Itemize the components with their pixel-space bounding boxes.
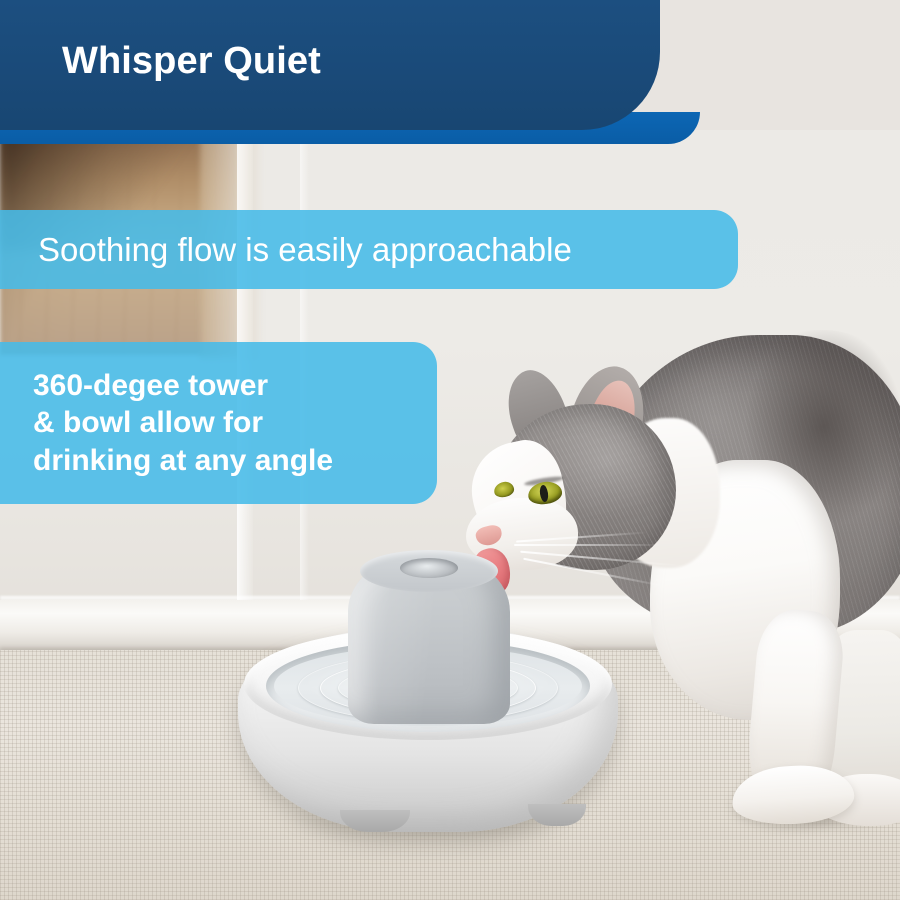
- cat-whisker: [514, 544, 664, 546]
- pet-water-fountain: [228, 548, 628, 848]
- callout-360-tower: 360-degee tower & bowl allow for drinkin…: [0, 342, 437, 504]
- product-feature-image: Whisper Quiet Soothing flow is easily ap…: [0, 0, 900, 900]
- fountain-tower-opening: [400, 558, 458, 578]
- page-title: Whisper Quiet: [62, 40, 321, 83]
- callout-soothing-flow: Soothing flow is easily approachable: [0, 210, 738, 289]
